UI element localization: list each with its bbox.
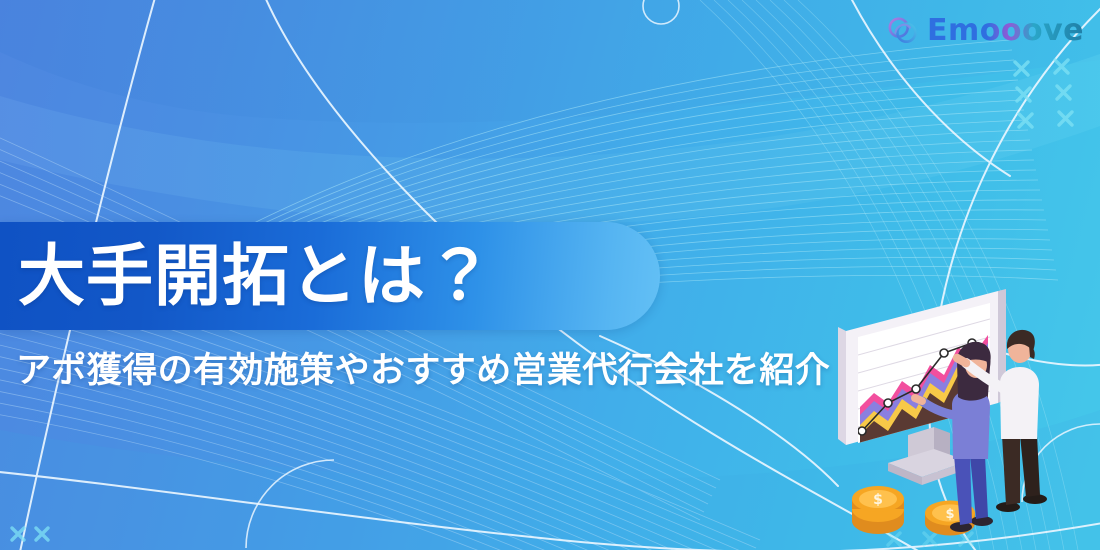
coin-dollar-symbol: $ [873, 492, 883, 508]
cross-mark [36, 528, 48, 540]
cross-mark [1055, 60, 1068, 73]
cross-mark [1015, 62, 1028, 75]
coin-dollar-symbol: $ [945, 507, 954, 522]
isometric-business-growth-scene: $ $ [830, 285, 1100, 550]
cross-mark [1059, 112, 1072, 125]
swirl-circles-icon [886, 14, 920, 48]
hero-banner: Emooove 大手開拓とは？ アポ獲得の有効施策やおすすめ営業代行会社を紹介 [0, 0, 1100, 550]
page-title: 大手開拓とは？ [18, 224, 494, 328]
page-subtitle: アポ獲得の有効施策やおすすめ営業代行会社を紹介 [16, 352, 830, 391]
cross-mark [1017, 88, 1030, 101]
cross-mark [12, 528, 24, 540]
cross-mark [1057, 86, 1070, 99]
cross-mark [1019, 114, 1032, 127]
hero-illustration: $ $ [830, 285, 1100, 550]
gold-coin-stack: $ [852, 486, 904, 534]
logo-wordmark: Emooove [927, 16, 1084, 46]
brand-logo[interactable]: Emooove [886, 14, 1084, 48]
